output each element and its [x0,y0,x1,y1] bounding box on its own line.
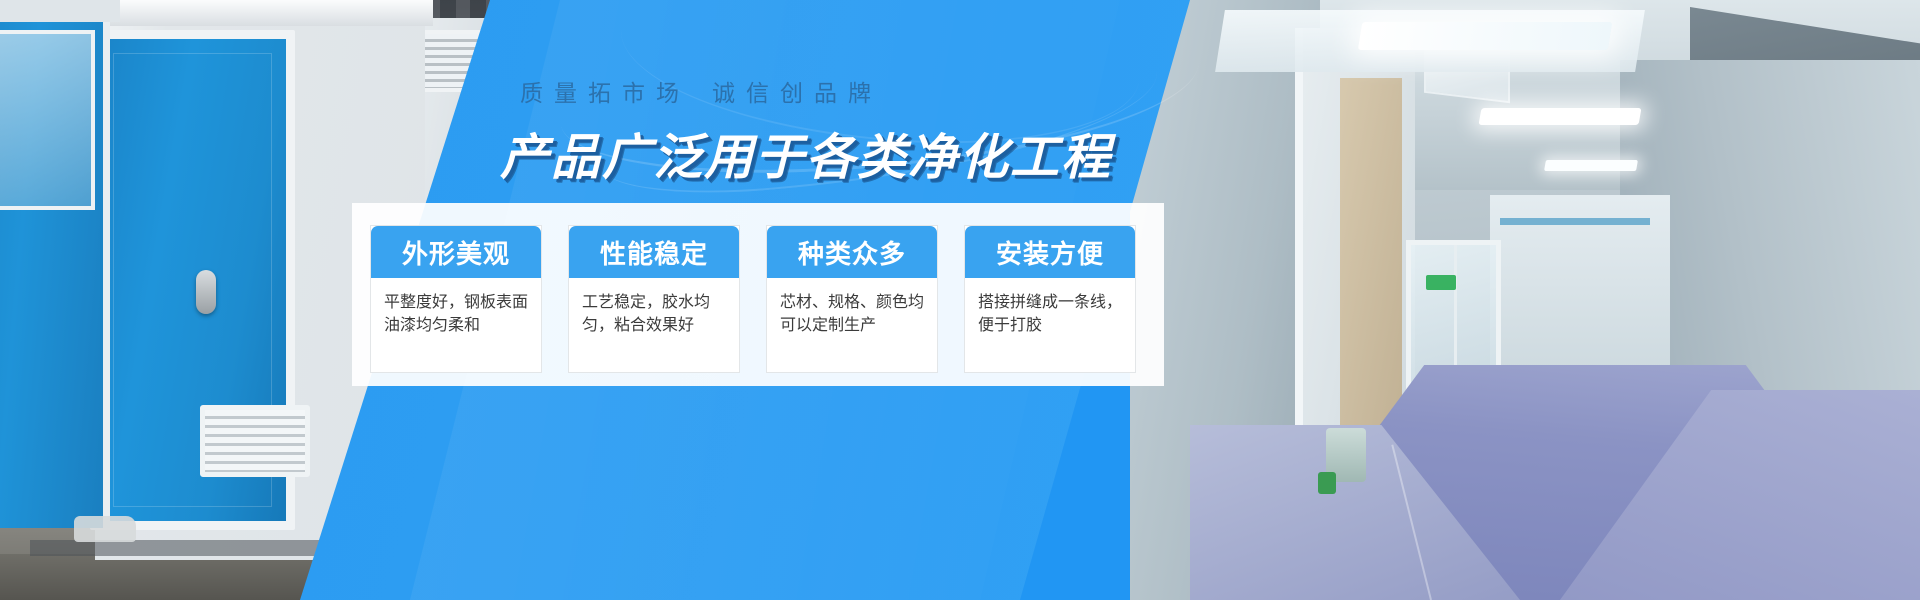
feature-card[interactable]: 种类众多 芯材、规格、颜色均可以定制生产 [766,225,938,373]
tagline-left-text: 质量拓市场 [520,80,690,106]
promo-banner: 质量拓市场诚信创品牌 产品广泛用于各类净化工程 外形美观 平整度好，钢板表面油漆… [0,0,1920,600]
feature-card-list: 外形美观 平整度好，钢板表面油漆均匀柔和 性能稳定 工艺稳定，胶水均匀，粘合效果… [370,225,1148,373]
feature-card-body: 搭接拼缝成一条线，便于打胶 [965,278,1135,372]
feature-card[interactable]: 性能稳定 工艺稳定，胶水均匀，粘合效果好 [568,225,740,373]
feature-card[interactable]: 外形美观 平整度好，钢板表面油漆均匀柔和 [370,225,542,373]
feature-card-title: 外形美观 [371,226,541,278]
feature-card-title: 性能稳定 [569,226,739,278]
feature-card-title: 种类众多 [767,226,937,278]
banner-tagline: 质量拓市场诚信创品牌 [520,74,1080,108]
feature-card-body: 芯材、规格、颜色均可以定制生产 [767,278,937,372]
banner-headline: 产品广泛用于各类净化工程 [500,118,1120,189]
feature-card[interactable]: 安装方便 搭接拼缝成一条线，便于打胶 [964,225,1136,373]
tagline-right-text: 诚信创品牌 [712,80,882,106]
feature-card-title: 安装方便 [965,226,1135,278]
feature-card-body: 平整度好，钢板表面油漆均匀柔和 [371,278,541,372]
feature-card-body: 工艺稳定，胶水均匀，粘合效果好 [569,278,739,372]
